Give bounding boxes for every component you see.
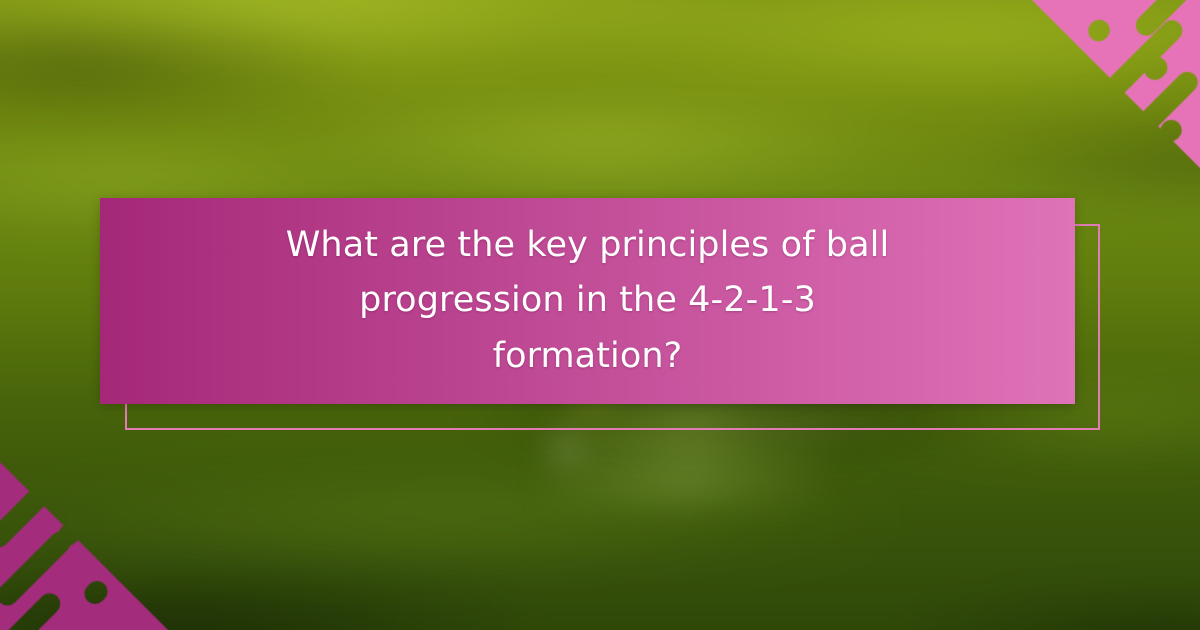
question-card: What are the key principles of ball prog…	[0, 0, 1200, 630]
bottom-left-corner-decoration	[0, 462, 168, 630]
page-title: What are the key principles of ball prog…	[268, 218, 908, 384]
top-right-corner-decoration	[1032, 0, 1200, 168]
headline-banner: What are the key principles of ball prog…	[100, 198, 1075, 404]
diagonal-interlock-corner-icon	[0, 462, 168, 630]
diagonal-interlock-corner-icon	[1032, 0, 1200, 168]
